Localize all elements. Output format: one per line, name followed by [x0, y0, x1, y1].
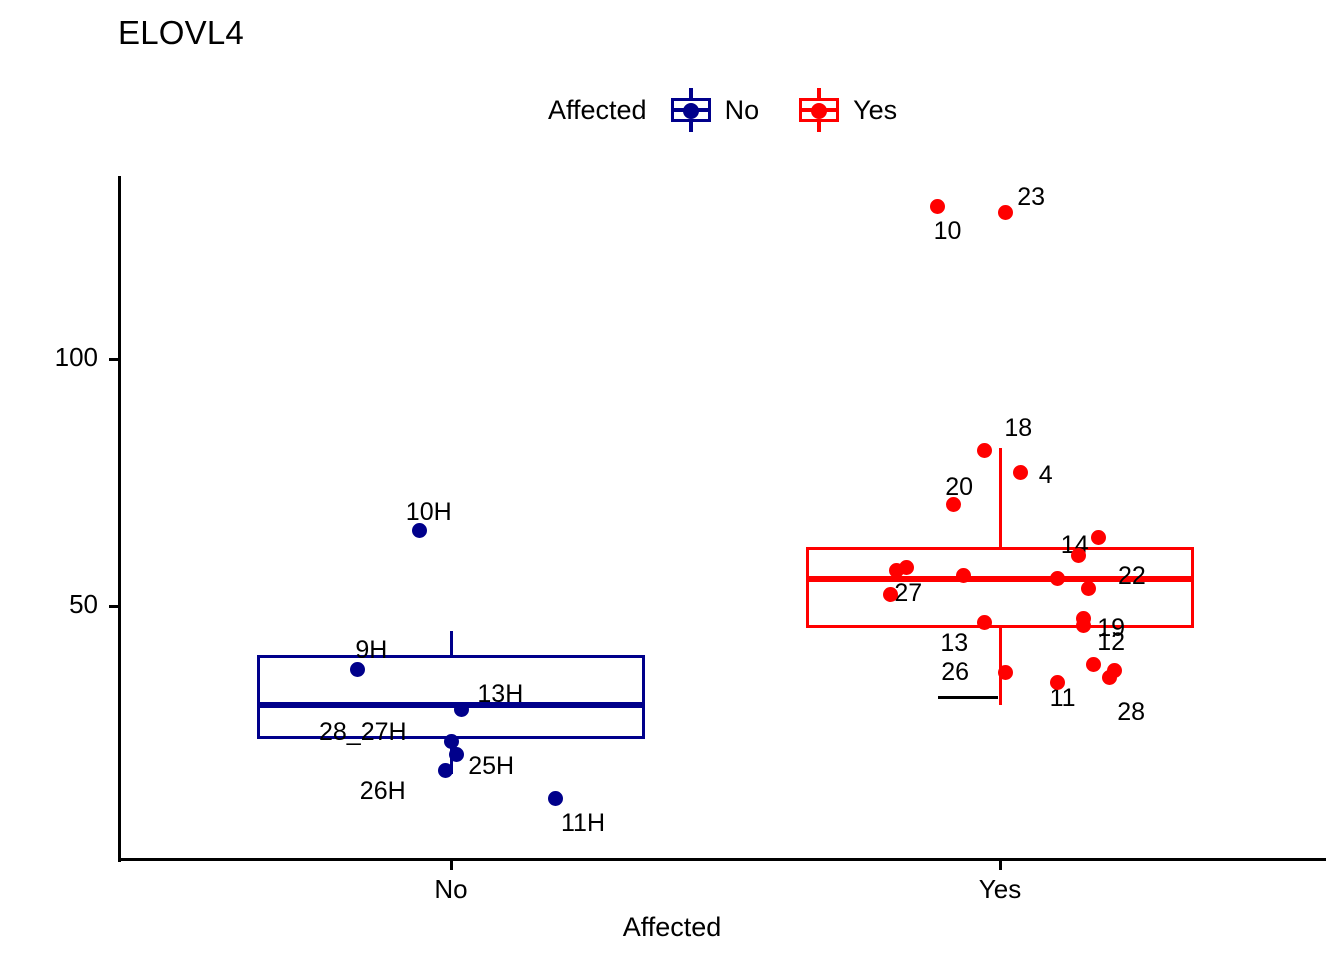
legend-point-yes: [811, 103, 827, 119]
whisker-upper-yes: [999, 448, 1002, 547]
data-point[interactable]: [1107, 663, 1122, 678]
page-title: ELOVL4: [118, 14, 244, 52]
y-axis-line: [118, 176, 121, 862]
point-label: 20: [945, 473, 973, 502]
data-point[interactable]: [548, 791, 563, 806]
boxplot-box-no[interactable]: [257, 655, 645, 739]
legend-label-no: No: [725, 95, 760, 126]
y-tick-100: [109, 358, 118, 361]
point-label: 27: [894, 579, 922, 608]
point-label: 26H: [360, 777, 406, 806]
data-point[interactable]: [930, 199, 945, 214]
boxplot-median-no: [257, 702, 645, 708]
data-point[interactable]: [1081, 581, 1096, 596]
legend: Affected No Yes: [548, 88, 931, 132]
data-point[interactable]: [998, 205, 1013, 220]
whisker-upper-no: [450, 631, 453, 656]
data-point[interactable]: [1050, 675, 1065, 690]
point-label: 4: [1039, 461, 1053, 490]
point-label: 10: [934, 217, 962, 246]
y-tick-label-50: 50: [20, 589, 98, 620]
point-label: 26: [941, 658, 969, 687]
point-label: 18: [1004, 414, 1032, 443]
point-label: 10H: [406, 498, 452, 527]
x-tick-no: [450, 861, 453, 870]
legend-key-yes-icon[interactable]: [793, 88, 845, 132]
point-label: 12: [1097, 628, 1125, 657]
y-tick-50: [109, 605, 118, 608]
data-point[interactable]: [1050, 571, 1065, 586]
x-axis-title: Affected: [0, 912, 1344, 943]
x-tick-yes: [999, 861, 1002, 870]
point-label: 28_27H: [319, 718, 407, 747]
point-label: 13: [940, 629, 968, 658]
point-label: 23: [1017, 183, 1045, 212]
legend-label-yes: Yes: [853, 95, 897, 126]
data-point[interactable]: [998, 665, 1013, 680]
data-point[interactable]: [1076, 618, 1091, 633]
legend-title: Affected: [548, 95, 647, 126]
data-point[interactable]: [977, 443, 992, 458]
point-label: 9H: [355, 636, 387, 665]
y-tick-label-100: 100: [20, 342, 98, 373]
point-label: 11H: [561, 809, 605, 838]
chart-root: ELOVL4 Affected No Yes 100 50 No Yes Aff…: [0, 0, 1344, 960]
point-label: 22: [1118, 562, 1146, 591]
data-point[interactable]: [1013, 465, 1028, 480]
data-point[interactable]: [1091, 530, 1106, 545]
x-tick-label-no: No: [391, 874, 511, 905]
data-point[interactable]: [449, 747, 464, 762]
x-axis-line: [118, 858, 1326, 861]
x-tick-label-yes: Yes: [940, 874, 1060, 905]
legend-key-no-icon[interactable]: [665, 88, 717, 132]
point-label: 25H: [468, 752, 514, 781]
point-label: 28: [1117, 698, 1145, 727]
label-leader-line-26: [938, 696, 998, 699]
data-point[interactable]: [889, 563, 904, 578]
data-point[interactable]: [438, 763, 453, 778]
point-label: 13H: [477, 680, 523, 709]
data-point[interactable]: [1071, 548, 1086, 563]
data-point[interactable]: [1086, 657, 1101, 672]
data-point[interactable]: [883, 587, 898, 602]
legend-point-no: [683, 103, 699, 119]
